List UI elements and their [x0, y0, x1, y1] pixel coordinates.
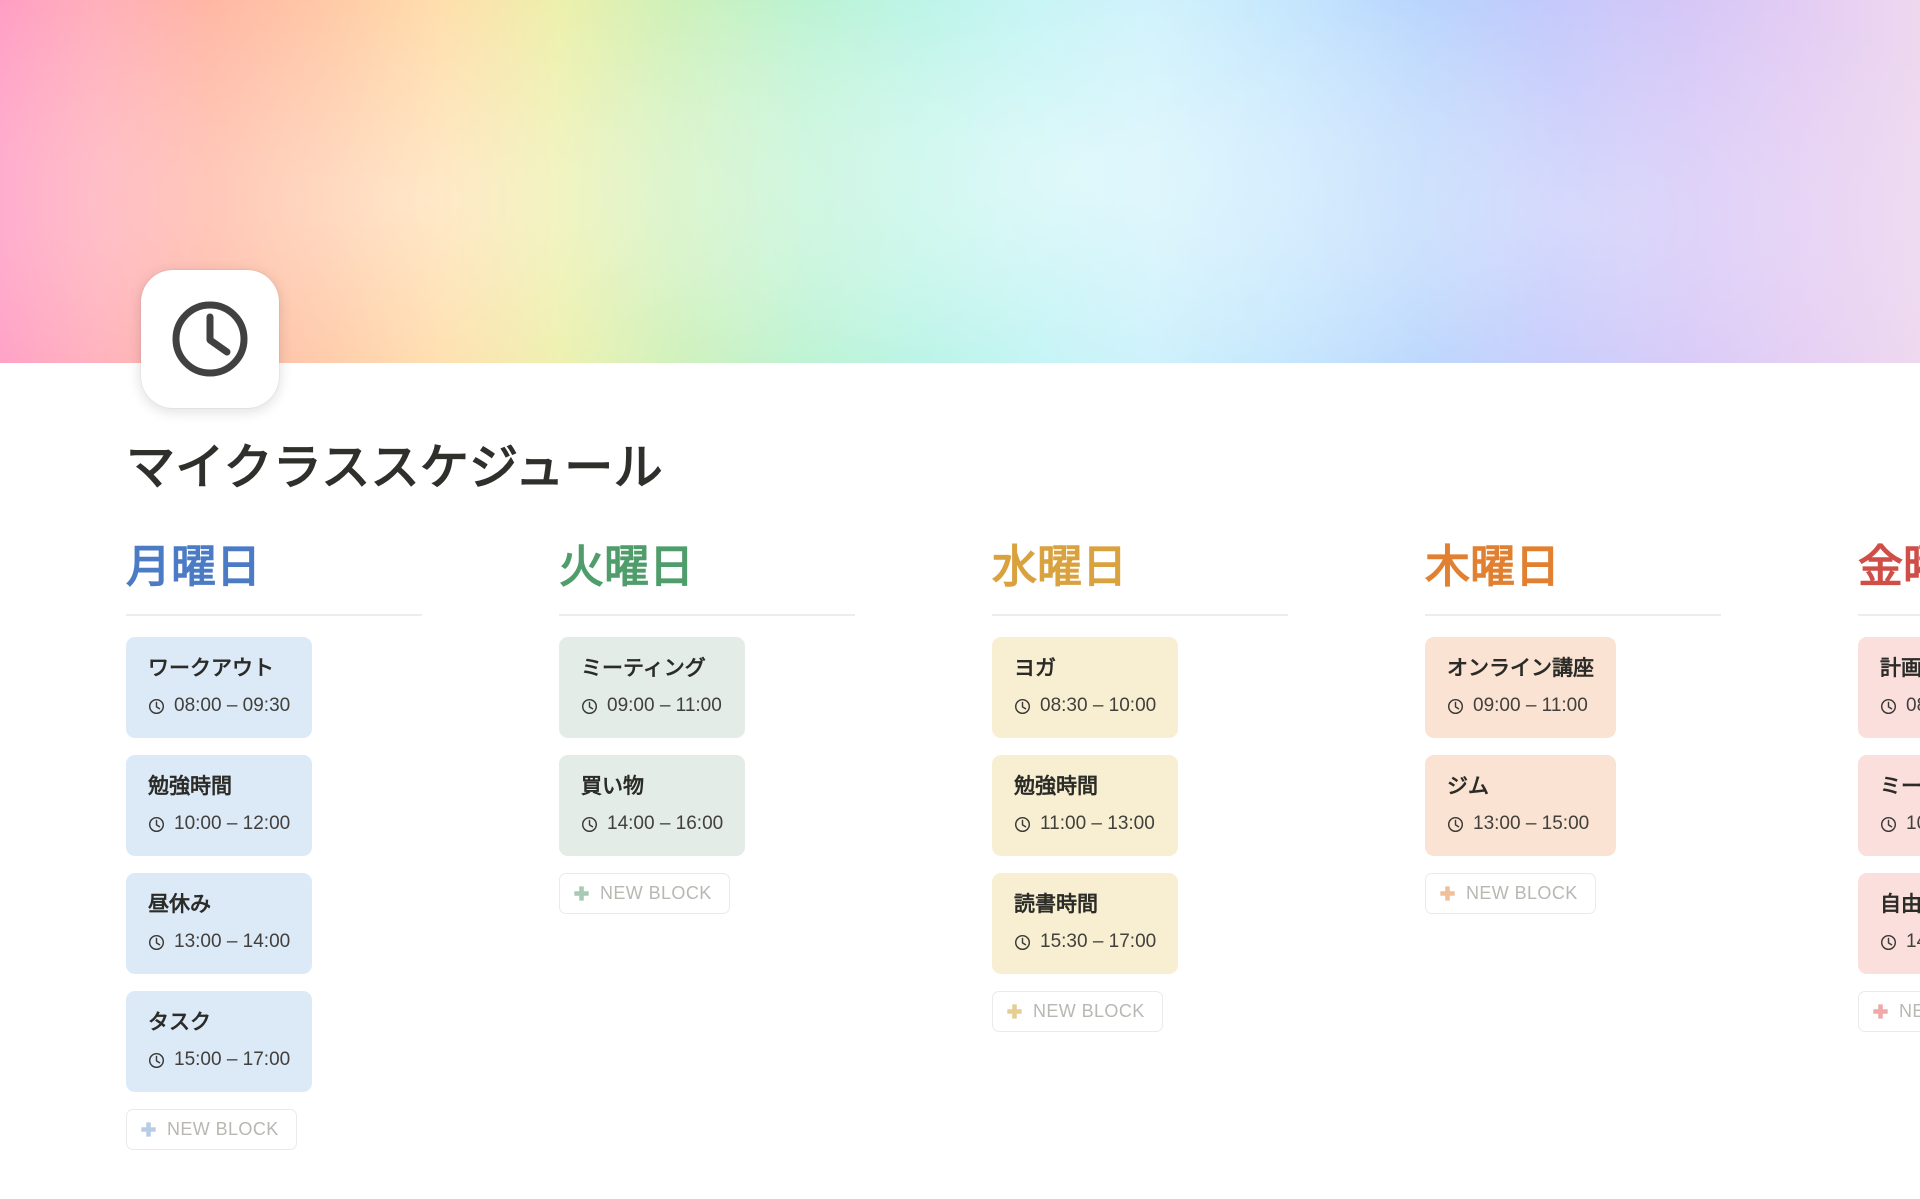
- block-list: オンライン講座09:00 – 11:00ジム13:00 – 15:00: [1425, 637, 1616, 856]
- block-title: 自由時間: [1880, 891, 1920, 919]
- schedule-block-card[interactable]: オンライン講座09:00 – 11:00: [1425, 637, 1616, 738]
- clock-icon: [148, 1052, 165, 1069]
- block-time-row: 11:00 – 13:00: [1014, 812, 1156, 836]
- block-time-row: 13:00 – 14:00: [148, 930, 290, 954]
- clock-icon: [1447, 816, 1464, 833]
- block-time-row: 14:00 – 16:00: [1880, 930, 1920, 954]
- block-time-label: 13:00 – 14:00: [174, 930, 290, 954]
- plus-icon: [573, 885, 590, 902]
- schedule-block-card[interactable]: ワークアウト08:00 – 09:30: [126, 637, 312, 738]
- clock-icon: [1014, 698, 1031, 715]
- schedule-board: 月曜日ワークアウト08:00 – 09:30勉強時間10:00 – 12:00昼…: [126, 542, 1794, 1150]
- block-title: ジム: [1447, 773, 1594, 801]
- new-block-button[interactable]: NEW BLOCK: [1858, 991, 1920, 1032]
- day-divider: [992, 614, 1288, 616]
- schedule-block-card[interactable]: 勉強時間11:00 – 13:00: [992, 755, 1178, 856]
- plus-icon: [1006, 1003, 1023, 1020]
- block-time-label: 11:00 – 13:00: [1040, 812, 1155, 836]
- block-time-row: 09:00 – 11:00: [1447, 694, 1594, 718]
- schedule-block-card[interactable]: ミーティング10:00 – 12:00: [1858, 755, 1920, 856]
- block-time-label: 10:00 – 12:00: [174, 812, 290, 836]
- block-time-row: 10:00 – 12:00: [148, 812, 290, 836]
- new-block-button[interactable]: NEW BLOCK: [1425, 873, 1596, 914]
- block-time-label: 15:00 – 17:00: [174, 1048, 290, 1072]
- block-list: ミーティング09:00 – 11:00買い物14:00 – 16:00: [559, 637, 745, 856]
- new-block-label: NEW BLOCK: [600, 883, 712, 904]
- clock-icon[interactable]: [141, 270, 279, 408]
- clock-icon: [148, 698, 165, 715]
- page-title: マイクラススケジュール: [126, 440, 1794, 498]
- block-time-label: 10:00 – 12:00: [1906, 812, 1920, 836]
- schedule-block-card[interactable]: 自由時間14:00 – 16:00: [1858, 873, 1920, 974]
- new-block-label: NEW BLOCK: [1033, 1001, 1145, 1022]
- block-time-row: 13:00 – 15:00: [1447, 812, 1594, 836]
- block-list: 計画08:00 – 09:30ミーティング10:00 – 12:00自由時間14…: [1858, 637, 1920, 974]
- schedule-block-card[interactable]: 買い物14:00 – 16:00: [559, 755, 745, 856]
- block-time-label: 14:00 – 16:00: [607, 812, 723, 836]
- new-block-button[interactable]: NEW BLOCK: [126, 1109, 297, 1150]
- clock-icon: [1014, 816, 1031, 833]
- clock-icon: [1880, 934, 1897, 951]
- day-header: 木曜日: [1425, 542, 1560, 614]
- day-header: 月曜日: [126, 542, 261, 614]
- new-block-label: NEW BLOCK: [1466, 883, 1578, 904]
- block-title: オンライン講座: [1447, 655, 1594, 683]
- block-time-label: 09:00 – 11:00: [607, 694, 722, 718]
- schedule-block-card[interactable]: ヨガ08:30 – 10:00: [992, 637, 1178, 738]
- block-time-label: 15:30 – 17:00: [1040, 930, 1156, 954]
- schedule-block-card[interactable]: 勉強時間10:00 – 12:00: [126, 755, 312, 856]
- page-content: マイクラススケジュール 月曜日ワークアウト08:00 – 09:30勉強時間10…: [0, 440, 1920, 1150]
- day-divider: [1858, 614, 1920, 616]
- schedule-block-card[interactable]: 昼休み13:00 – 14:00: [126, 873, 312, 974]
- day-divider: [1425, 614, 1721, 616]
- day-header: 火曜日: [559, 542, 694, 614]
- block-time-label: 08:30 – 10:00: [1040, 694, 1156, 718]
- block-list: ヨガ08:30 – 10:00勉強時間11:00 – 13:00読書時間15:3…: [992, 637, 1178, 974]
- day-column: 月曜日ワークアウト08:00 – 09:30勉強時間10:00 – 12:00昼…: [126, 542, 422, 1150]
- block-title: ヨガ: [1014, 655, 1156, 683]
- block-time-label: 13:00 – 15:00: [1473, 812, 1589, 836]
- block-title: ミーティング: [1880, 773, 1920, 801]
- clock-icon: [1014, 934, 1031, 951]
- day-column: 火曜日ミーティング09:00 – 11:00買い物14:00 – 16:00NE…: [559, 542, 855, 914]
- clock-icon: [1880, 816, 1897, 833]
- clock-icon: [1880, 698, 1897, 715]
- day-column: 金曜日計画08:00 – 09:30ミーティング10:00 – 12:00自由時…: [1858, 542, 1920, 1032]
- clock-icon: [581, 816, 598, 833]
- plus-icon: [1872, 1003, 1889, 1020]
- clock-icon: [148, 934, 165, 951]
- day-header: 金曜日: [1858, 542, 1920, 614]
- block-title: 勉強時間: [148, 773, 290, 801]
- block-time-row: 08:00 – 09:30: [1880, 694, 1920, 718]
- block-time-label: 14:00 – 16:00: [1906, 930, 1920, 954]
- new-block-label: NEW BLOCK: [167, 1119, 279, 1140]
- block-list: ワークアウト08:00 – 09:30勉強時間10:00 – 12:00昼休み1…: [126, 637, 312, 1092]
- block-title: 計画: [1880, 655, 1920, 683]
- new-block-button[interactable]: NEW BLOCK: [992, 991, 1163, 1032]
- block-time-row: 09:00 – 11:00: [581, 694, 723, 718]
- day-divider: [126, 614, 422, 616]
- block-time-label: 09:00 – 11:00: [1473, 694, 1588, 718]
- schedule-page: マイクラススケジュール 月曜日ワークアウト08:00 – 09:30勉強時間10…: [0, 0, 1920, 1199]
- plus-icon: [1439, 885, 1456, 902]
- block-title: タスク: [148, 1009, 290, 1037]
- block-title: 昼休み: [148, 891, 290, 919]
- day-divider: [559, 614, 855, 616]
- block-time-row: 10:00 – 12:00: [1880, 812, 1920, 836]
- new-block-button[interactable]: NEW BLOCK: [559, 873, 730, 914]
- day-column: 木曜日オンライン講座09:00 – 11:00ジム13:00 – 15:00NE…: [1425, 542, 1721, 914]
- block-time-label: 08:00 – 09:30: [1906, 694, 1920, 718]
- block-title: 買い物: [581, 773, 723, 801]
- day-header: 水曜日: [992, 542, 1127, 614]
- block-title: ミーティング: [581, 655, 723, 683]
- new-block-label: NEW BLOCK: [1899, 1001, 1920, 1022]
- block-title: 読書時間: [1014, 891, 1156, 919]
- schedule-block-card[interactable]: 計画08:00 – 09:30: [1858, 637, 1920, 738]
- cover-gradient-banner: [0, 0, 1920, 363]
- schedule-block-card[interactable]: ミーティング09:00 – 11:00: [559, 637, 745, 738]
- clock-icon: [581, 698, 598, 715]
- block-time-row: 08:00 – 09:30: [148, 694, 290, 718]
- block-time-row: 08:30 – 10:00: [1014, 694, 1156, 718]
- block-time-row: 15:30 – 17:00: [1014, 930, 1156, 954]
- block-title: 勉強時間: [1014, 773, 1156, 801]
- schedule-block-card[interactable]: 読書時間15:30 – 17:00: [992, 873, 1178, 974]
- block-title: ワークアウト: [148, 655, 290, 683]
- clock-icon: [1447, 698, 1464, 715]
- schedule-block-card[interactable]: タスク15:00 – 17:00: [126, 991, 312, 1092]
- block-time-row: 14:00 – 16:00: [581, 812, 723, 836]
- schedule-block-card[interactable]: ジム13:00 – 15:00: [1425, 755, 1616, 856]
- block-time-row: 15:00 – 17:00: [148, 1048, 290, 1072]
- plus-icon: [140, 1121, 157, 1138]
- block-time-label: 08:00 – 09:30: [174, 694, 290, 718]
- day-column: 水曜日ヨガ08:30 – 10:00勉強時間11:00 – 13:00読書時間1…: [992, 542, 1288, 1032]
- clock-icon: [148, 816, 165, 833]
